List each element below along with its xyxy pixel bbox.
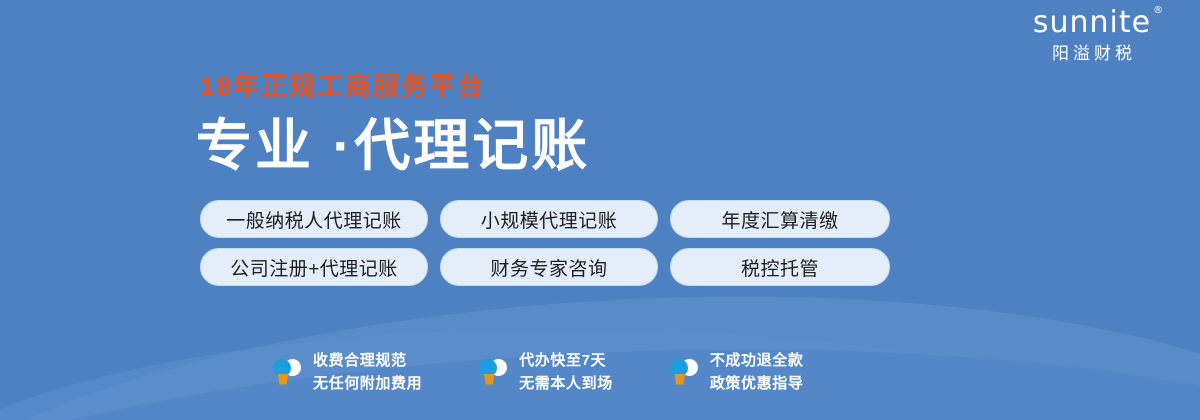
- feature-line-1: 代办快至7天: [519, 352, 606, 369]
- service-tag-finance-expert-consulting[interactable]: 财务专家咨询: [440, 248, 658, 286]
- hero-kicker: 18年正规工商服务平台: [200, 73, 485, 99]
- feature-strip: 收费合理规范 无任何附加费用 代办快至7天 无需本人到场 不成功退全款: [272, 350, 803, 395]
- service-tag-annual-tax-settlement[interactable]: 年度汇算清缴: [670, 200, 890, 238]
- feature-item-pricing: 收费合理规范 无任何附加费用: [272, 350, 422, 395]
- feature-line-2: 无任何附加费用: [313, 375, 422, 392]
- bulb-icon: [478, 357, 508, 389]
- service-tag-row-1: 一般纳税人代理记账 小规模代理记账 年度汇算清缴: [200, 200, 920, 238]
- hero-headline: 专业 ·代理记账: [196, 115, 590, 178]
- service-tag-company-registration-bookkeeping[interactable]: 公司注册+代理记账: [200, 248, 428, 286]
- service-tag-small-scale-bookkeeping[interactable]: 小规模代理记账: [440, 200, 658, 238]
- feature-line-2: 政策优惠指导: [710, 375, 804, 392]
- company-logo[interactable]: sunnite ® 阳溢财税: [1002, 8, 1182, 62]
- service-tag-general-taxpayer-bookkeeping[interactable]: 一般纳税人代理记账: [200, 200, 428, 238]
- feature-item-guarantee: 不成功退全款 政策优惠指导: [669, 350, 804, 395]
- bulb-icon: [272, 357, 302, 389]
- service-tag-tax-control-custody[interactable]: 税控托管: [670, 248, 890, 286]
- feature-item-speed-text: 代办快至7天 无需本人到场: [519, 350, 613, 395]
- bulb-icon-base: [674, 374, 686, 385]
- service-tag-row-2: 公司注册+代理记账 财务专家咨询 税控托管: [200, 248, 920, 286]
- feature-item-speed: 代办快至7天 无需本人到场: [478, 350, 613, 395]
- bulb-icon: [669, 357, 699, 389]
- promo-banner: sunnite ® 阳溢财税 18年正规工商服务平台 专业 ·代理记账 一般纳税…: [0, 0, 1200, 420]
- bulb-icon-base: [277, 374, 289, 385]
- feature-line-1: 不成功退全款: [710, 352, 804, 369]
- service-tag-list: 一般纳税人代理记账 小规模代理记账 年度汇算清缴 公司注册+代理记账 财务专家咨…: [200, 200, 920, 296]
- feature-item-pricing-text: 收费合理规范 无任何附加费用: [313, 350, 422, 395]
- feature-item-guarantee-text: 不成功退全款 政策优惠指导: [710, 350, 804, 395]
- feature-line-2: 无需本人到场: [519, 375, 613, 392]
- feature-line-1: 收费合理规范: [313, 352, 407, 369]
- logo-chinese-name: 阳溢财税: [1002, 45, 1182, 62]
- bulb-icon-base: [483, 374, 495, 385]
- logo-wordmark-text: sunnite: [1033, 5, 1151, 40]
- registered-trademark-icon: ®: [1153, 6, 1164, 16]
- logo-wordmark: sunnite ®: [1033, 8, 1151, 38]
